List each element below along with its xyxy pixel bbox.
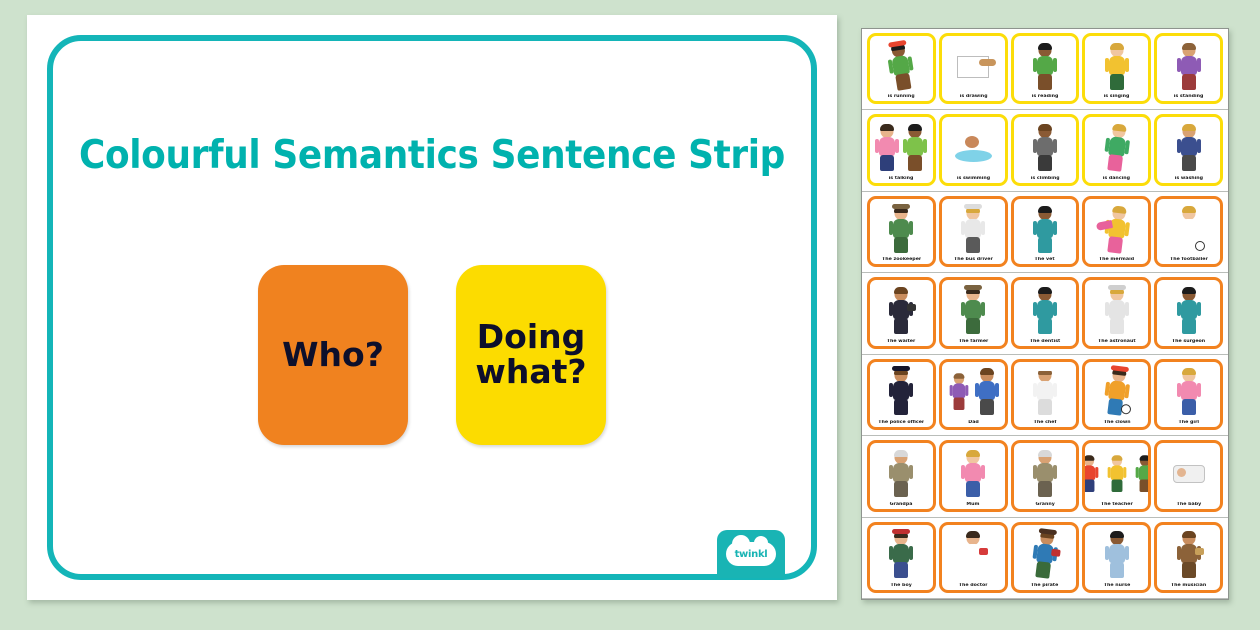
figure-art [902,125,928,171]
figure-art [1104,288,1130,334]
noun-cards-sheet-5[interactable]: The boyThe doctorThe pirateThe nurseThe … [862,518,1228,599]
dancing-icon [1087,120,1146,175]
figure-art [888,369,914,415]
flashcard[interactable]: The farmer [939,277,1008,348]
page-title: Colourful Semantics Sentence Strip [59,133,804,178]
figure-art [1176,369,1202,415]
flashcard-label: Dad [968,420,979,425]
flashcard-grid: The boyThe doctorThe pirateThe nurseThe … [862,518,1228,597]
slide-canvas: Colourful Semantics Sentence Strip Who? … [27,15,837,600]
flashcard-label: The footballer [1170,257,1208,262]
flashcard[interactable]: is climbing [1011,114,1080,185]
semantic-card-row: Who? Doing what? [27,265,837,445]
hand-icon [979,59,996,66]
noun-cards-sheet-4[interactable]: GrandpaMumGrannyThe teacherThe baby [862,436,1228,517]
nurse-icon [1087,528,1146,583]
climbing-icon [1016,120,1075,175]
flashcard-label: is talking [889,176,914,181]
figure-art [1032,44,1058,90]
figure-art [949,374,969,410]
doing-what-card-label: Doing what? [456,320,606,389]
flashcard[interactable]: The dentist [1011,277,1080,348]
figure-art [1082,456,1099,492]
figure-art [1101,205,1132,254]
flashcard-label: The baby [1176,502,1201,507]
flashcard-label: The bus driver [954,257,993,262]
flashcard-label: The vet [1035,257,1055,262]
flashcard-label: The farmer [958,339,988,344]
running-icon [872,39,931,94]
flashcard[interactable]: The musician [1154,522,1223,593]
flashcard-label: The boy [891,583,912,588]
flashcard[interactable]: The boy [867,522,936,593]
flashcard-label: The dentist [1030,339,1061,344]
flashcard-label: is drawing [959,95,987,100]
busdriver-icon [944,202,1003,257]
flashcard-label: The zookeeper [882,257,921,262]
talking-icon [872,120,931,175]
flashcard-grid: is runningis drawingis readingis singing… [862,29,1228,108]
mum-icon [944,446,1003,501]
flashcard[interactable]: is swimming [939,114,1008,185]
flashcard[interactable]: The waiter [867,277,936,348]
flashcard[interactable]: The mermaid [1082,196,1151,267]
figure-art [1135,456,1152,492]
standing-icon [1159,39,1218,94]
figure-art [1176,288,1202,334]
flashcard-grid: The police officerDadThe chefThe clownTh… [862,355,1228,434]
flashcard-label: is dancing [1103,176,1130,181]
flashcard-label: Mum [967,502,980,507]
flashcard-label: The chef [1033,420,1056,425]
flashcard[interactable]: The astronaut [1082,277,1151,348]
figure-art [1029,531,1060,580]
flashcard-label: is singing [1104,95,1130,100]
flashcard[interactable]: The chef [1011,359,1080,430]
flashcard-grid: The waiterThe farmerThe dentistThe astro… [862,273,1228,352]
flashcard-label: The clown [1103,420,1130,425]
figure-art [1032,451,1058,497]
flashcard-label: The girl [1178,420,1198,425]
flashcard-label: The astronaut [1098,339,1136,344]
mermaid-icon [1087,202,1146,257]
flashcard-label: is swimming [957,176,990,181]
noun-cards-sheet-2[interactable]: The waiterThe farmerThe dentistThe astro… [862,273,1228,354]
figure-art [974,369,1000,415]
dentist-icon [1016,283,1075,338]
dad-icon [944,365,1003,420]
flashcard-label: The doctor [959,583,988,588]
waiter-icon [872,283,931,338]
adult-and-child-art [946,369,1000,415]
washing-icon [1159,120,1218,175]
figure-art [960,532,986,578]
flashcard-label: is running [888,95,915,100]
drawing-icon [944,39,1003,94]
flashcard[interactable]: The girl [1154,359,1223,430]
zookeeper-icon [872,202,931,257]
figure-art [888,288,914,334]
flashcard-label: is standing [1174,95,1204,100]
girl-icon [1159,365,1218,420]
flashcard[interactable]: The teacher [1082,440,1151,511]
vet-icon [1016,202,1075,257]
figure-art [1104,532,1130,578]
clown-icon [1087,365,1146,420]
granny-icon [1016,446,1075,501]
flashcard-grid: GrandpaMumGrannyThe teacherThe baby [862,436,1228,515]
flashcard-label: The mermaid [1099,257,1134,262]
baby-art [1173,465,1205,483]
flashcard-label: The nurse [1103,583,1130,588]
flashcard[interactable]: The doctor [939,522,1008,593]
figure-art [888,532,914,578]
flashcard-label: The surgeon [1172,339,1205,344]
doing-what-card[interactable]: Doing what? [456,265,606,445]
swimmer-art [951,128,995,168]
flashcard[interactable]: is drawing [939,33,1008,104]
flashcard-label: The teacher [1101,502,1133,507]
flashcard-label: Granny [1035,502,1054,507]
flashcard[interactable]: Dad [939,359,1008,430]
figure-art [1032,369,1058,415]
grandpa-icon [872,446,931,501]
noun-cards-sheet-3[interactable]: The police officerDadThe chefThe clownTh… [862,355,1228,436]
flashcard[interactable]: The pirate [1011,522,1080,593]
figure-art [1107,456,1127,492]
flashcard[interactable]: is running [867,33,936,104]
boy-icon [872,528,931,583]
figure-art [1176,207,1202,253]
baby-icon [1159,446,1218,501]
musician-icon [1159,528,1218,583]
surgeon-icon [1159,283,1218,338]
figure-art [1176,532,1202,578]
flashcard[interactable]: is washing [1154,114,1223,185]
flashcard[interactable]: The surgeon [1154,277,1223,348]
singing-icon [1087,39,1146,94]
figure-art [1104,44,1130,90]
who-card[interactable]: Who? [258,265,408,445]
doctor-icon [944,528,1003,583]
flashcard[interactable]: The police officer [867,359,936,430]
figure-art [960,207,986,253]
figure-art [1176,125,1202,171]
figure-art [874,125,900,171]
figure-art [888,451,914,497]
paper-icon [957,56,989,78]
figure-art [885,42,918,92]
two-children-art [874,125,928,171]
flashcard-label: The waiter [887,339,916,344]
noun-cards-sheet-1[interactable]: The zookeeperThe bus driverThe vetThe me… [862,192,1228,273]
flashcard[interactable]: is standing [1154,33,1223,104]
figure-art [1176,44,1202,90]
flashcard-label: is climbing [1031,176,1060,181]
figure-art [888,207,914,253]
figure-art [1032,125,1058,171]
swimming-icon [944,120,1003,175]
figure-art [960,451,986,497]
flashcard[interactable]: The clown [1082,359,1151,430]
flashcard[interactable]: is reading [1011,33,1080,104]
police-icon [872,365,931,420]
flashcard[interactable]: is dancing [1082,114,1151,185]
flashcard-grid: The zookeeperThe bus driverThe vetThe me… [862,192,1228,271]
flashcard[interactable]: The vet [1011,196,1080,267]
flashcard-label: The musician [1171,583,1206,588]
figure-art [1032,207,1058,253]
farmer-icon [944,283,1003,338]
flashcard[interactable]: The nurse [1082,522,1151,593]
group-art [1082,451,1151,497]
figure-art [1101,368,1132,417]
flashcard[interactable]: Mum [939,440,1008,511]
verb-cards-sheet-1[interactable]: is runningis drawingis readingis singing… [862,29,1228,110]
flashcard-label: The pirate [1031,583,1059,588]
flashcard-label: is washing [1174,176,1202,181]
figure-art [1101,124,1132,173]
chef-icon [1016,365,1075,420]
flashcard[interactable]: is talking [867,114,936,185]
figure-art [960,288,986,334]
flashcard-label: is reading [1032,95,1059,100]
flashcard-grid: is talkingis swimmingis climbingis danci… [862,110,1228,189]
flashcard-label: The police officer [878,420,924,425]
footballer-icon [1159,202,1218,257]
flashcard[interactable]: The bus driver [939,196,1008,267]
verb-cards-sheet-2[interactable]: is talkingis swimmingis climbingis danci… [862,110,1228,191]
flashcard[interactable]: The baby [1154,440,1223,511]
astronaut-icon [1087,283,1146,338]
figure-art [1032,288,1058,334]
flashcard[interactable]: The footballer [1154,196,1223,267]
twinkl-wordmark: twinkl [735,549,768,560]
resource-preview-panel[interactable]: is runningis drawingis readingis singing… [861,28,1229,600]
teacher-icon [1087,446,1146,501]
twinkl-logo: twinkl [717,530,785,578]
flashcard-label: Grandpa [890,502,913,507]
pirate-icon [1016,528,1075,583]
cloud-icon: twinkl [726,542,776,566]
who-card-label: Who? [282,338,384,373]
flashcard[interactable]: Granny [1011,440,1080,511]
flashcard[interactable]: Grandpa [867,440,936,511]
reading-icon [1016,39,1075,94]
flashcard[interactable]: The zookeeper [867,196,936,267]
flashcard[interactable]: is singing [1082,33,1151,104]
